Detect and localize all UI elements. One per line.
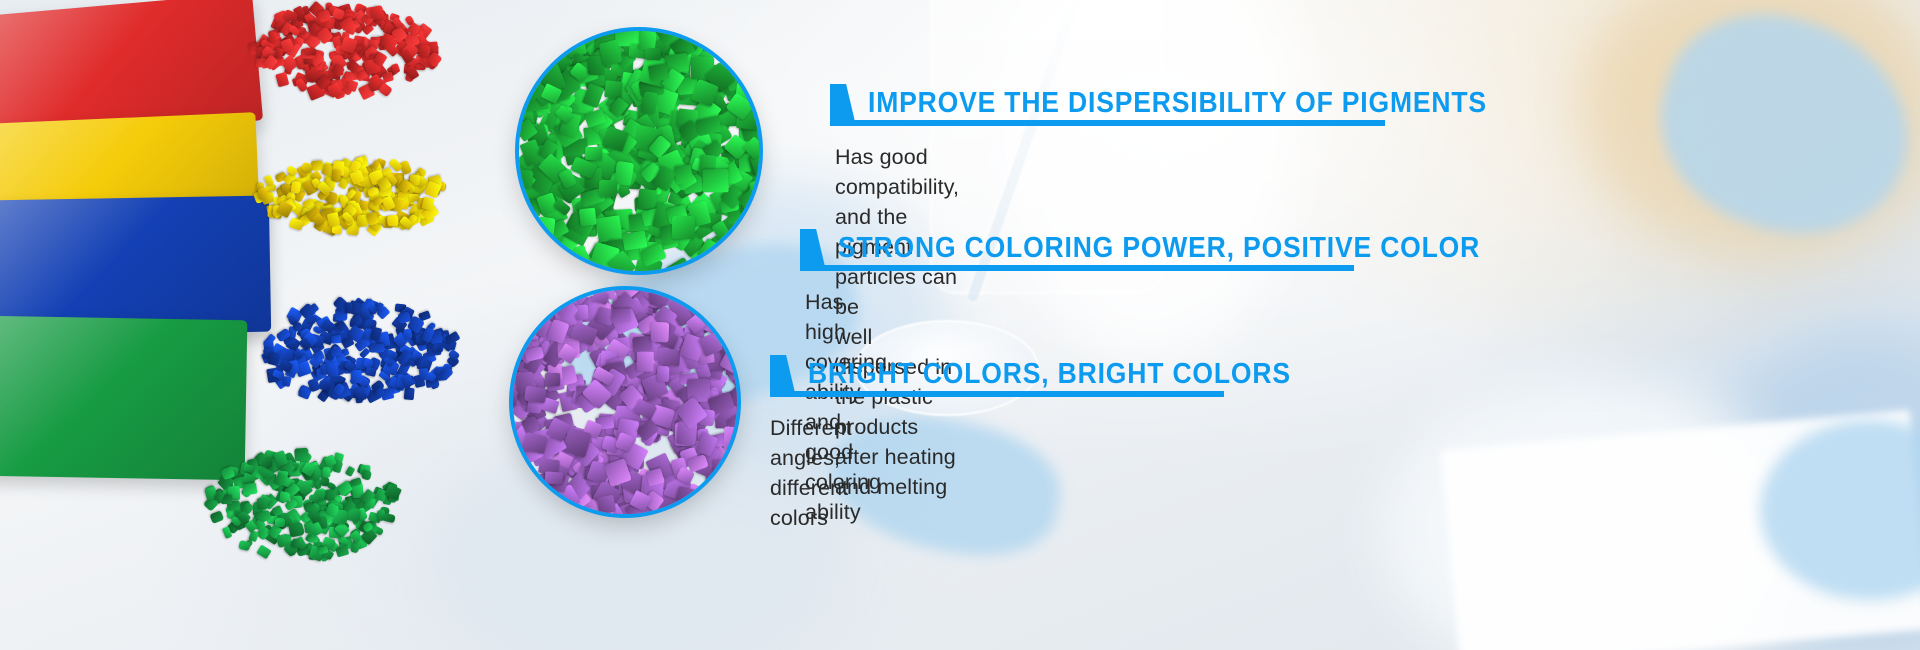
feature-1-title: IMPROVE THE DISPERSIBILITY OF PIGMENTS	[868, 83, 1487, 123]
feature-3-body: Different angles, different colors	[770, 413, 852, 533]
purple-pellets-circle-inset	[513, 290, 737, 514]
green-color-plaque	[0, 316, 247, 481]
feature-3-underline	[770, 391, 1224, 397]
banner-stage: IMPROVE THE DISPERSIBILITY OF PIGMENTS H…	[0, 0, 1920, 650]
blue-color-plaque	[0, 196, 271, 337]
feature-1-underline	[830, 120, 1385, 126]
feature-2-underline	[800, 265, 1354, 271]
green-pellets-circle-inset	[519, 31, 759, 271]
feature-3-title: BRIGHT COLORS, BRIGHT COLORS	[808, 354, 1291, 394]
feature-2-title: STRONG COLORING POWER, POSITIVE COLOR	[838, 228, 1480, 268]
